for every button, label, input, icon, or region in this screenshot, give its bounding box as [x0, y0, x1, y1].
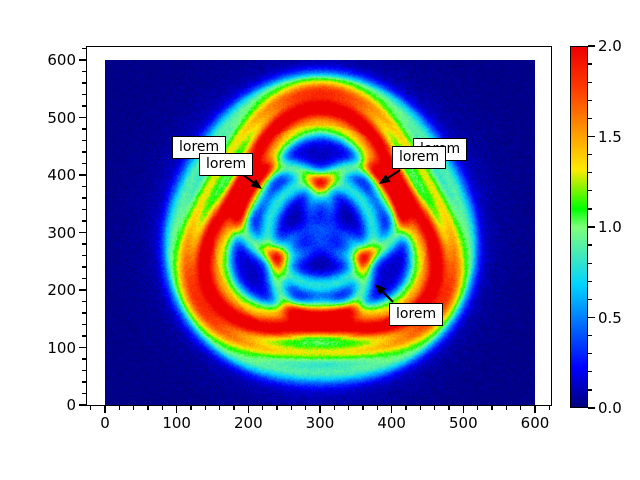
- y-tick-label: 600: [47, 51, 76, 69]
- x-minor-tick: [119, 406, 120, 410]
- colorbar-tick-label: 0.5: [598, 309, 622, 327]
- colorbar-minor-tick: [588, 82, 592, 83]
- annotation-bottom[interactable]: lorem: [389, 303, 443, 326]
- x-tick-label: 600: [521, 414, 550, 432]
- x-minor-tick: [477, 406, 478, 410]
- x-major-tick: [463, 406, 464, 413]
- x-tick-label: 500: [449, 414, 478, 432]
- colorbar-major-tick: [588, 317, 595, 318]
- x-minor-tick: [434, 406, 435, 410]
- x-major-tick: [534, 406, 535, 413]
- y-minor-tick: [82, 278, 86, 279]
- colorbar-minor-tick: [588, 263, 592, 264]
- colorbar-tick-label: 2.0: [598, 37, 622, 55]
- y-minor-tick: [82, 266, 86, 267]
- y-tick-label: 100: [47, 339, 76, 357]
- y-minor-tick: [82, 255, 86, 256]
- colorbar-minor-tick: [588, 281, 592, 282]
- x-minor-tick: [305, 406, 306, 410]
- y-minor-tick: [82, 151, 86, 152]
- x-major-tick: [391, 406, 392, 413]
- colorbar-minor-tick: [588, 353, 592, 354]
- x-minor-tick: [276, 406, 277, 410]
- x-tick-label: 100: [162, 414, 191, 432]
- y-minor-tick: [82, 94, 86, 95]
- x-tick-label: 0: [100, 414, 110, 432]
- x-minor-tick: [233, 406, 234, 410]
- y-major-tick: [79, 174, 86, 175]
- colorbar-tick-label: 1.0: [598, 218, 622, 236]
- x-major-tick: [319, 406, 320, 413]
- y-minor-tick: [82, 358, 86, 359]
- y-tick-label: 300: [47, 224, 76, 242]
- x-minor-tick: [448, 406, 449, 410]
- x-minor-tick: [90, 406, 91, 410]
- x-major-tick: [104, 406, 105, 413]
- colorbar-minor-tick: [588, 190, 592, 191]
- x-major-tick: [248, 406, 249, 413]
- colorbar-minor-tick: [588, 172, 592, 173]
- x-tick-label: 400: [377, 414, 406, 432]
- colorbar: [570, 46, 588, 408]
- x-minor-tick: [520, 406, 521, 410]
- colorbar-minor-tick: [588, 154, 592, 155]
- colorbar-tick-label: 1.5: [598, 128, 622, 146]
- y-minor-tick: [82, 243, 86, 244]
- colorbar-tick-label: 0.0: [598, 399, 622, 417]
- x-minor-tick: [377, 406, 378, 410]
- y-minor-tick: [82, 381, 86, 382]
- x-minor-tick: [334, 406, 335, 410]
- y-major-tick: [79, 347, 86, 348]
- y-minor-tick: [82, 186, 86, 187]
- colorbar-minor-tick: [588, 335, 592, 336]
- x-major-tick: [176, 406, 177, 413]
- colorbar-major-tick: [588, 407, 595, 408]
- y-minor-tick: [82, 71, 86, 72]
- x-minor-tick: [420, 406, 421, 410]
- colorbar-gradient: [571, 47, 587, 407]
- x-minor-tick: [291, 406, 292, 410]
- x-minor-tick: [262, 406, 263, 410]
- y-tick-label: 400: [47, 166, 76, 184]
- heatmap-canvas: [105, 60, 535, 405]
- y-major-tick: [79, 289, 86, 290]
- heatmap-image: [105, 60, 535, 405]
- annotation-left-front[interactable]: lorem: [199, 153, 253, 176]
- y-minor-tick: [82, 370, 86, 371]
- colorbar-minor-tick: [588, 208, 592, 209]
- x-minor-tick: [348, 406, 349, 410]
- y-minor-tick: [82, 82, 86, 83]
- x-minor-tick: [506, 406, 507, 410]
- colorbar-minor-tick: [588, 371, 592, 372]
- colorbar-minor-tick: [588, 63, 592, 64]
- x-minor-tick: [362, 406, 363, 410]
- y-minor-tick: [82, 312, 86, 313]
- x-tick-label: 200: [234, 414, 263, 432]
- colorbar-minor-tick: [588, 299, 592, 300]
- x-tick-label: 300: [306, 414, 335, 432]
- y-tick-label: 200: [47, 281, 76, 299]
- y-minor-tick: [82, 128, 86, 129]
- y-tick-label: 500: [47, 109, 76, 127]
- y-minor-tick: [82, 393, 86, 394]
- colorbar-major-tick: [588, 45, 595, 46]
- x-minor-tick: [405, 406, 406, 410]
- y-minor-tick: [82, 105, 86, 106]
- y-major-tick: [79, 59, 86, 60]
- x-minor-tick: [147, 406, 148, 410]
- x-minor-tick: [491, 406, 492, 410]
- x-minor-tick: [219, 406, 220, 410]
- x-minor-tick: [205, 406, 206, 410]
- figure-canvas: 01002003004005006000100200300400500600 0…: [0, 0, 640, 480]
- x-minor-tick: [133, 406, 134, 410]
- y-major-tick: [79, 232, 86, 233]
- y-minor-tick: [82, 48, 86, 49]
- colorbar-minor-tick: [588, 389, 592, 390]
- y-minor-tick: [82, 197, 86, 198]
- y-minor-tick: [82, 140, 86, 141]
- y-major-tick: [79, 404, 86, 405]
- annotation-right-front[interactable]: lorem: [392, 146, 446, 169]
- x-minor-tick: [162, 406, 163, 410]
- y-minor-tick: [82, 335, 86, 336]
- y-minor-tick: [82, 220, 86, 221]
- colorbar-major-tick: [588, 136, 595, 137]
- y-major-tick: [79, 117, 86, 118]
- y-minor-tick: [82, 209, 86, 210]
- colorbar-major-tick: [588, 226, 595, 227]
- y-minor-tick: [82, 301, 86, 302]
- x-minor-tick: [190, 406, 191, 410]
- y-tick-label: 0: [66, 396, 76, 414]
- y-minor-tick: [82, 324, 86, 325]
- colorbar-minor-tick: [588, 244, 592, 245]
- x-minor-tick: [549, 406, 550, 410]
- colorbar-minor-tick: [588, 100, 592, 101]
- y-minor-tick: [82, 163, 86, 164]
- colorbar-minor-tick: [588, 118, 592, 119]
